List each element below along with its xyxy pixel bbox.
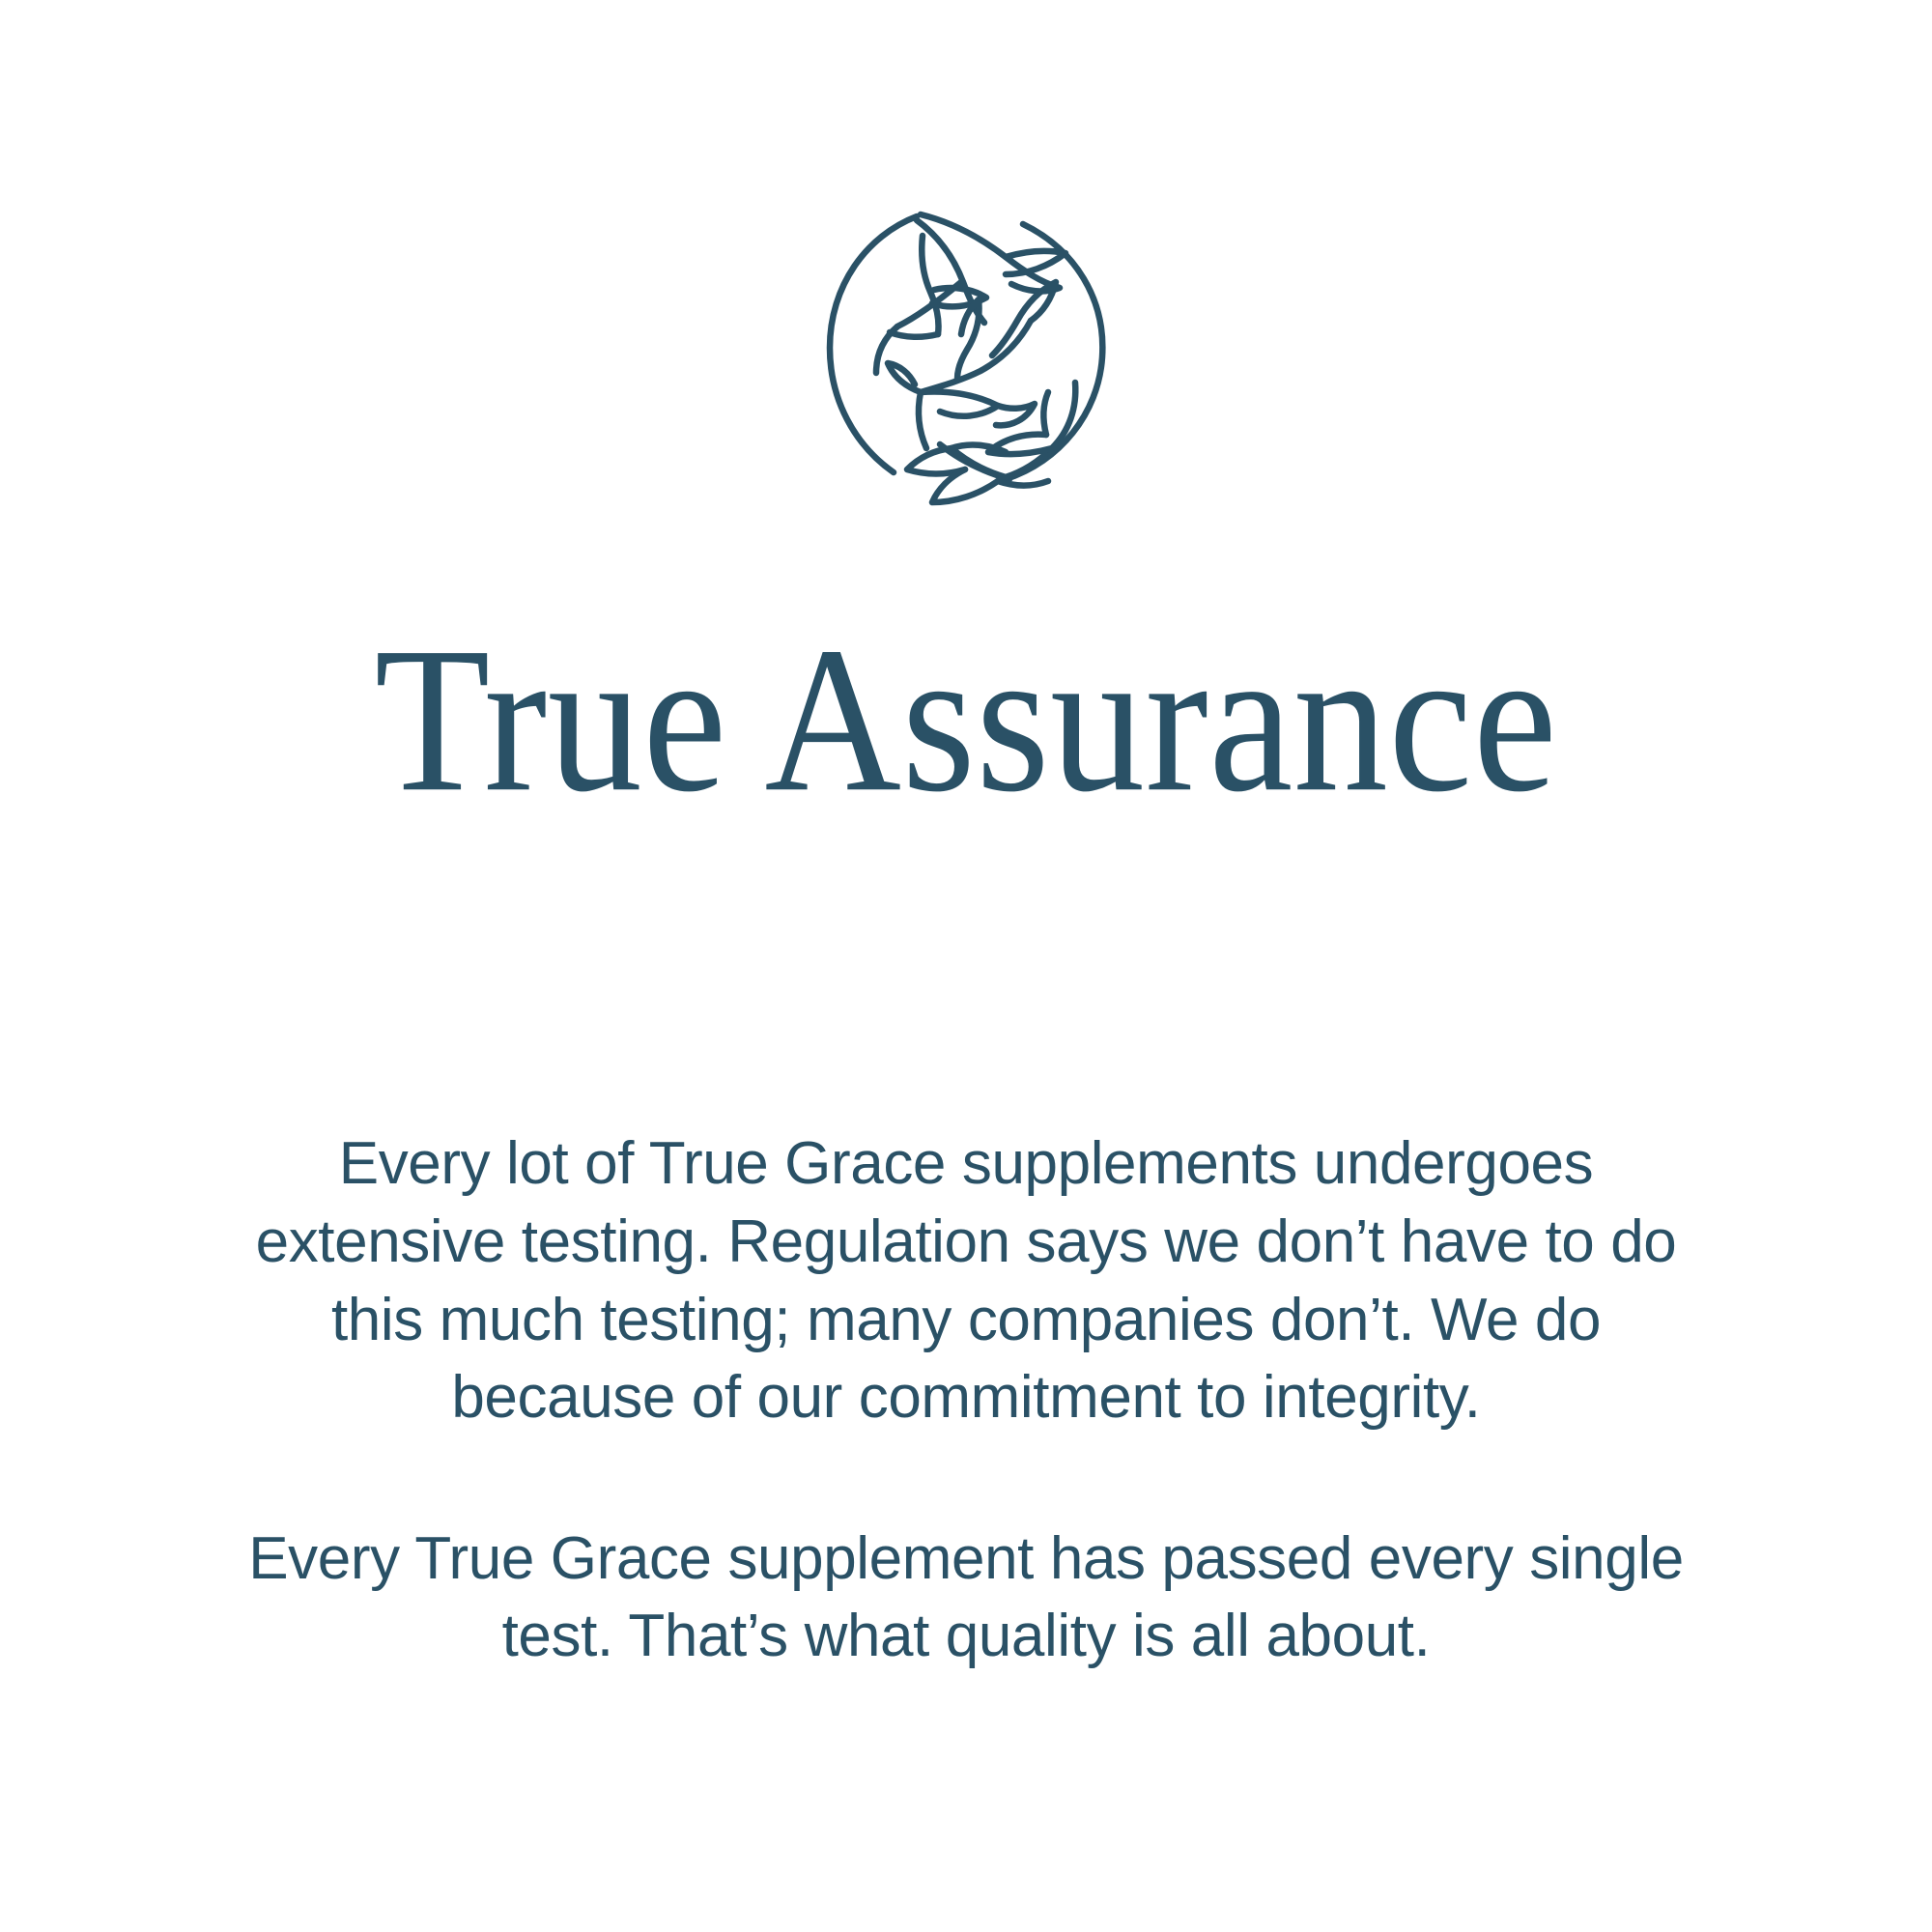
true-assurance-card: True Assurance Every lot of True Grace s… [0,0,1932,1932]
body-paragraph-2: Every True Grace supplement has passed e… [222,1520,1710,1676]
page-title: True Assurance [375,616,1558,825]
body-copy: Every lot of True Grace supplements unde… [222,1125,1710,1676]
body-paragraph-1: Every lot of True Grace supplements unde… [222,1125,1710,1436]
true-grace-botanical-circle-logo [816,193,1116,512]
